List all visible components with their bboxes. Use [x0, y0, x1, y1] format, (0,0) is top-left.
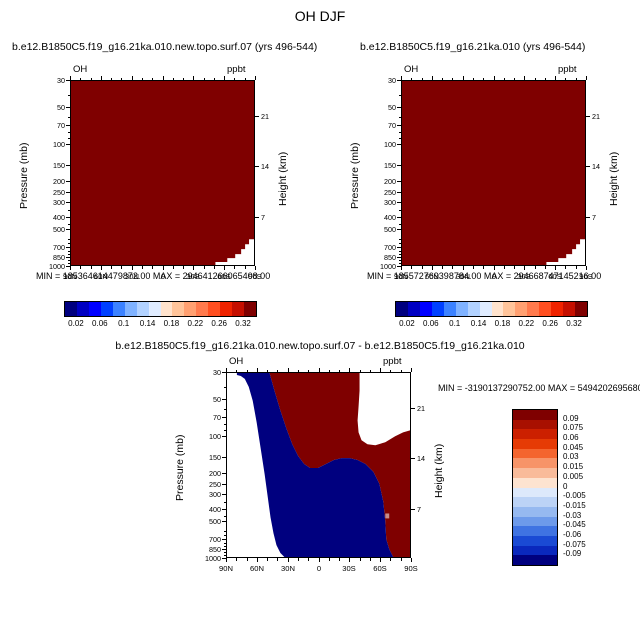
- right-ytick-label-1000: 1000: [367, 262, 396, 271]
- diff-ytick-label-50: 50: [192, 395, 221, 404]
- left-ytick-mark-70: [66, 125, 70, 126]
- right-xtick-minor-top: [473, 78, 474, 81]
- colorbar-cell: [492, 302, 504, 316]
- left-ytick-label-1000: 1000: [36, 262, 65, 271]
- diff-xtick-minor-top: [360, 370, 361, 373]
- right-ytick-label-30: 30: [367, 76, 396, 85]
- diff-colorbar-tick-label: -0.015: [563, 501, 603, 510]
- right-xtick-minor: [576, 266, 577, 269]
- left-xtick-mark-6: [255, 266, 256, 270]
- left-xtick-minor-top: [214, 78, 215, 81]
- page-title: OH DJF: [0, 8, 640, 24]
- colorbar-cell: [513, 526, 557, 536]
- left-panel-title: b.e12.B1850C5.f19_g16.21ka.010.new.topo.…: [12, 41, 317, 53]
- right-ytick-minor: [399, 132, 402, 133]
- diff-colorbar-tick-label: -0.06: [563, 530, 603, 539]
- right-xtick-top-1: [432, 76, 433, 80]
- left-ytick-mark-700: [66, 247, 70, 248]
- colorbar-cell: [513, 546, 557, 556]
- diff-panel-minmax: MIN = -3190137290752.00 MAX = 5494202695…: [438, 383, 640, 393]
- diff-ytick-minor: [224, 555, 227, 556]
- left-ytick-label-30: 30: [36, 76, 65, 85]
- colorbar-cell: [396, 302, 408, 316]
- left-xtick-minor-top: [173, 78, 174, 81]
- diff-ytick-mark-300: [222, 494, 226, 495]
- left-ytick-label-700: 700: [36, 243, 65, 252]
- diff-xtick-top-6: [411, 368, 412, 372]
- right-xtick-mark-4: [524, 266, 525, 270]
- right-ytick-minor: [399, 210, 402, 211]
- left-y2tick-label-7: 7: [261, 213, 281, 222]
- right-y2tick-mark-21: [586, 116, 590, 117]
- left-ytick-label-400: 400: [36, 213, 65, 222]
- colorbar-cell: [456, 302, 468, 316]
- left-ytick-mark-200: [66, 181, 70, 182]
- diff-ytick-minor: [224, 543, 227, 544]
- diff-ytick-minor: [224, 387, 227, 388]
- right-ytick-label-700: 700: [367, 243, 396, 252]
- diff-colorbar-tick-label: 0.09: [563, 414, 603, 423]
- colorbar-cell: [513, 555, 557, 565]
- colorbar-cell: [408, 302, 420, 316]
- left-panel-plot[interactable]: [70, 80, 255, 266]
- colorbar-cell: [184, 302, 196, 316]
- diff-colorbar-tick-label: -0.09: [563, 549, 603, 558]
- diff-ytick-mark-200: [222, 473, 226, 474]
- left-ytick-mark-150: [66, 165, 70, 166]
- diff-xtick-mark-0: [226, 558, 227, 562]
- right-ytick-mark-30: [397, 80, 401, 81]
- right-ytick-mark-50: [397, 107, 401, 108]
- diff-xtick-minor-top: [401, 370, 402, 373]
- colorbar-cell: [113, 302, 125, 316]
- right-ytick-minor: [399, 251, 402, 252]
- diff-xtick-minor: [247, 558, 248, 561]
- diff-ytick-minor: [224, 531, 227, 532]
- diff-y2tick-label-7: 7: [417, 505, 437, 514]
- left-xtick-minor: [245, 266, 246, 269]
- colorbar-cell: [513, 478, 557, 488]
- diff-ytick-mark-30: [222, 372, 226, 373]
- diff-panel-plot[interactable]: [226, 372, 411, 558]
- right-xtick-minor-top: [483, 78, 484, 81]
- colorbar-cell: [551, 302, 563, 316]
- diff-panel-title: b.e12.B1850C5.f19_g16.21ka.010.new.topo.…: [0, 340, 640, 352]
- left-xtick-minor-top: [245, 78, 246, 81]
- right-ytick-label-50: 50: [367, 103, 396, 112]
- diff-xtick-minor-top: [370, 370, 371, 373]
- left-xtick-mark-0: [70, 266, 71, 270]
- right-xtick-top-3: [494, 76, 495, 80]
- right-ytick-mark-250: [397, 192, 401, 193]
- left-xtick-minor: [142, 266, 143, 269]
- diff-xtick-label-3: 0: [303, 564, 335, 573]
- right-units-label: ppbt: [558, 64, 577, 75]
- diff-xtick-minor: [370, 558, 371, 561]
- right-panel-plot[interactable]: [401, 80, 586, 266]
- right-ytick-minor: [399, 239, 402, 240]
- right-ylabel: Pressure (mb): [349, 142, 361, 209]
- colorbar-cell: [89, 302, 101, 316]
- right-xtick-mark-1: [432, 266, 433, 270]
- diff-ytick-minor: [224, 430, 227, 431]
- diff-ytick-label-100: 100: [192, 432, 221, 441]
- colorbar-cell: [196, 302, 208, 316]
- colorbar-cell: [137, 302, 149, 316]
- left-ytick-mark-30: [66, 80, 70, 81]
- left-xtick-minor-top: [121, 78, 122, 81]
- colorbar-cell: [244, 302, 256, 316]
- colorbar-cell: [513, 497, 557, 507]
- left-y2tick-mark-14: [255, 166, 259, 167]
- right-ytick-mark-150: [397, 165, 401, 166]
- diff-xtick-top-5: [380, 368, 381, 372]
- colorbar-cell: [513, 429, 557, 439]
- right-ytick-minor: [399, 138, 402, 139]
- left-xtick-mark-5: [224, 266, 225, 270]
- colorbar-cell: [539, 302, 551, 316]
- left-colorbar-tick-label: 0.32: [227, 319, 259, 328]
- left-ytick-mark-500: [66, 229, 70, 230]
- left-ytick-minor: [68, 254, 71, 255]
- right-xtick-mark-2: [463, 266, 464, 270]
- diff-xtick-mark-4: [349, 558, 350, 562]
- diff-xtick-top-4: [349, 368, 350, 372]
- left-ytick-mark-250: [66, 192, 70, 193]
- diff-xtick-top-0: [226, 368, 227, 372]
- right-ytick-mark-300: [397, 202, 401, 203]
- colorbar-cell: [232, 302, 244, 316]
- diff-xtick-label-2: 30N: [272, 564, 304, 573]
- colorbar-cell: [575, 302, 587, 316]
- diff-ytick-mark-400: [222, 509, 226, 510]
- diff-ytick-minor: [224, 424, 227, 425]
- diff-xtick-minor-top: [339, 370, 340, 373]
- diff-ytick-mark-150: [222, 457, 226, 458]
- left-variable-label: OH: [73, 64, 87, 75]
- diff-colorbar-tick-label: 0: [563, 482, 603, 491]
- diff-colorbar-tick-label: -0.03: [563, 511, 603, 520]
- right-xtick-minor-top: [576, 78, 577, 81]
- left-xtick-minor-top: [91, 78, 92, 81]
- diff-y2label: Height (km): [433, 444, 445, 498]
- colorbar-cell: [432, 302, 444, 316]
- left-panel-colorbar[interactable]: [64, 301, 257, 317]
- colorbar-cell: [101, 302, 113, 316]
- diff-xtick-mark-2: [288, 558, 289, 562]
- left-xtick-top-5: [224, 76, 225, 80]
- left-xtick-minor: [214, 266, 215, 269]
- left-ytick-minor: [68, 260, 71, 261]
- diff-xtick-top-2: [288, 368, 289, 372]
- left-ytick-minor: [68, 132, 71, 133]
- diff-xtick-minor-top: [329, 370, 330, 373]
- right-panel-field: [402, 81, 585, 265]
- diff-xtick-minor: [401, 558, 402, 561]
- colorbar-cell: [161, 302, 173, 316]
- left-ytick-label-300: 300: [36, 198, 65, 207]
- right-ytick-mark-700: [397, 247, 401, 248]
- diff-xtick-mark-5: [380, 558, 381, 562]
- diff-ytick-label-500: 500: [192, 517, 221, 526]
- left-xtick-top-2: [132, 76, 133, 80]
- left-ytick-mark-400: [66, 217, 70, 218]
- right-ytick-label-400: 400: [367, 213, 396, 222]
- left-xtick-minor: [234, 266, 235, 269]
- left-xtick-minor: [91, 266, 92, 269]
- diff-colorbar-tick-label: -0.005: [563, 491, 603, 500]
- diff-xtick-minor: [298, 558, 299, 561]
- right-xtick-minor: [514, 266, 515, 269]
- right-xtick-minor-top: [411, 78, 412, 81]
- diff-ytick-minor: [224, 535, 227, 536]
- left-y2tick-mark-21: [255, 116, 259, 117]
- colorbar-cell: [208, 302, 220, 316]
- right-y2label: Height (km): [608, 152, 620, 206]
- right-xtick-minor: [565, 266, 566, 269]
- right-panel-minmax: MIN = 185572769398784.00 MAX = 294668747…: [367, 271, 601, 281]
- right-xtick-minor-top: [514, 78, 515, 81]
- diff-ylabel: Pressure (mb): [174, 434, 186, 501]
- right-ytick-mark-100: [397, 144, 401, 145]
- diff-ytick-label-30: 30: [192, 368, 221, 377]
- left-xtick-minor-top: [152, 78, 153, 81]
- right-ytick-minor: [399, 117, 402, 118]
- diff-xtick-minor-top: [308, 370, 309, 373]
- right-xtick-minor: [504, 266, 505, 269]
- colorbar-cell: [503, 302, 515, 316]
- diff-colorbar-tick-label: -0.045: [563, 520, 603, 529]
- left-ytick-label-50: 50: [36, 103, 65, 112]
- right-xtick-minor: [442, 266, 443, 269]
- diff-ytick-label-70: 70: [192, 413, 221, 422]
- left-y2label: Height (km): [277, 152, 289, 206]
- diff-ytick-mark-70: [222, 417, 226, 418]
- diff-xtick-minor: [360, 558, 361, 561]
- colorbar-cell: [513, 507, 557, 517]
- left-xtick-mark-4: [193, 266, 194, 270]
- colorbar-cell: [513, 488, 557, 498]
- right-xtick-minor-top: [565, 78, 566, 81]
- left-xtick-minor-top: [234, 78, 235, 81]
- diff-ytick-mark-500: [222, 521, 226, 522]
- left-ytick-mark-100: [66, 144, 70, 145]
- diff-ytick-label-850: 850: [192, 545, 221, 554]
- diff-ytick-minor: [224, 409, 227, 410]
- right-ytick-label-70: 70: [367, 121, 396, 130]
- diff-colorbar-tick-label: 0.075: [563, 423, 603, 432]
- colorbar-cell: [480, 302, 492, 316]
- diff-ytick-minor: [224, 546, 227, 547]
- left-xtick-top-0: [70, 76, 71, 80]
- right-ytick-label-850: 850: [367, 253, 396, 262]
- left-ytick-minor: [68, 210, 71, 211]
- diff-xtick-minor-top: [298, 370, 299, 373]
- colorbar-cell: [563, 302, 575, 316]
- right-y2tick-mark-14: [586, 166, 590, 167]
- left-ytick-mark-50: [66, 107, 70, 108]
- diff-colorbar-tick-label: 0.06: [563, 433, 603, 442]
- right-xtick-top-4: [524, 76, 525, 80]
- diff-xtick-minor: [329, 558, 330, 561]
- diff-xtick-label-0: 90N: [210, 564, 242, 573]
- colorbar-cell: [513, 468, 557, 478]
- right-xtick-minor: [411, 266, 412, 269]
- colorbar-cell: [513, 458, 557, 468]
- left-xtick-minor: [173, 266, 174, 269]
- left-ytick-minor: [68, 224, 71, 225]
- right-xtick-minor: [535, 266, 536, 269]
- left-ytick-label-100: 100: [36, 140, 65, 149]
- right-xtick-top-5: [555, 76, 556, 80]
- colorbar-cell: [527, 302, 539, 316]
- right-panel-colorbar[interactable]: [395, 301, 588, 317]
- left-ytick-minor: [68, 138, 71, 139]
- colorbar-cell: [444, 302, 456, 316]
- left-xtick-minor: [121, 266, 122, 269]
- left-ytick-mark-850: [66, 257, 70, 258]
- right-y2tick-label-21: 21: [592, 112, 612, 121]
- diff-panel-colorbar[interactable]: [512, 409, 558, 566]
- right-variable-label: OH: [404, 64, 418, 75]
- colorbar-cell: [513, 449, 557, 459]
- left-xtick-mark-1: [101, 266, 102, 270]
- right-ytick-mark-850: [397, 257, 401, 258]
- diff-xtick-minor: [277, 558, 278, 561]
- diff-colorbar-tick-label: 0.03: [563, 452, 603, 461]
- left-xtick-minor-top: [111, 78, 112, 81]
- right-xtick-minor-top: [545, 78, 546, 81]
- colorbar-cell: [513, 420, 557, 430]
- right-xtick-mark-5: [555, 266, 556, 270]
- left-ylabel: Pressure (mb): [18, 142, 30, 209]
- diff-y2tick-mark-14: [411, 458, 415, 459]
- left-xtick-minor: [204, 266, 205, 269]
- diff-ytick-label-150: 150: [192, 453, 221, 462]
- colorbar-cell: [513, 517, 557, 527]
- right-xtick-mark-3: [494, 266, 495, 270]
- left-xtick-minor: [111, 266, 112, 269]
- colorbar-cell: [420, 302, 432, 316]
- diff-xtick-top-3: [319, 368, 320, 372]
- right-panel-title: b.e12.B1850C5.f19_g16.21ka.010 (yrs 496-…: [360, 41, 585, 53]
- right-xtick-mark-0: [401, 266, 402, 270]
- diff-xtick-minor-top: [277, 370, 278, 373]
- colorbar-cell: [77, 302, 89, 316]
- left-panel-minmax: MIN = 185364614479872.00 MAX = 294641266…: [36, 271, 270, 281]
- right-ytick-label-200: 200: [367, 177, 396, 186]
- right-xtick-minor: [422, 266, 423, 269]
- diff-xtick-minor: [390, 558, 391, 561]
- left-y2tick-mark-7: [255, 217, 259, 218]
- left-ytick-label-850: 850: [36, 253, 65, 262]
- right-ytick-mark-70: [397, 125, 401, 126]
- right-y2tick-mark-7: [586, 217, 590, 218]
- right-ytick-minor: [399, 263, 402, 264]
- diff-panel-field: [227, 373, 410, 557]
- diff-xtick-minor-top: [236, 370, 237, 373]
- left-ytick-minor: [68, 263, 71, 264]
- diff-y2tick-label-21: 21: [417, 404, 437, 413]
- left-xtick-minor-top: [80, 78, 81, 81]
- diff-ytick-mark-50: [222, 399, 226, 400]
- left-xtick-minor-top: [204, 78, 205, 81]
- left-xtick-minor-top: [183, 78, 184, 81]
- diff-xtick-label-4: 30S: [333, 564, 365, 573]
- left-ytick-minor: [68, 243, 71, 244]
- right-ytick-mark-200: [397, 181, 401, 182]
- diff-xtick-mark-6: [411, 558, 412, 562]
- left-xtick-mark-2: [132, 266, 133, 270]
- diff-ytick-label-700: 700: [192, 535, 221, 544]
- right-y2tick-label-7: 7: [592, 213, 612, 222]
- diff-xtick-minor: [267, 558, 268, 561]
- right-xtick-minor-top: [452, 78, 453, 81]
- colorbar-cell: [513, 410, 557, 420]
- left-ytick-label-250: 250: [36, 188, 65, 197]
- diff-variable-label: OH: [229, 356, 243, 367]
- left-ytick-label-150: 150: [36, 161, 65, 170]
- right-xtick-minor-top: [422, 78, 423, 81]
- right-ytick-mark-400: [397, 217, 401, 218]
- right-ytick-minor: [399, 224, 402, 225]
- left-y2tick-label-21: 21: [261, 112, 281, 121]
- right-ytick-label-150: 150: [367, 161, 396, 170]
- right-xtick-top-6: [586, 76, 587, 80]
- right-xtick-minor-top: [504, 78, 505, 81]
- diff-xtick-minor-top: [267, 370, 268, 373]
- colorbar-cell: [468, 302, 480, 316]
- colorbar-cell: [513, 439, 557, 449]
- right-ytick-label-250: 250: [367, 188, 396, 197]
- diff-ytick-mark-100: [222, 436, 226, 437]
- right-ytick-label-500: 500: [367, 225, 396, 234]
- left-ytick-minor: [68, 117, 71, 118]
- right-xtick-minor: [483, 266, 484, 269]
- diff-colorbar-tick-label: 0.005: [563, 472, 603, 481]
- colorbar-cell: [65, 302, 77, 316]
- diff-ytick-mark-250: [222, 484, 226, 485]
- colorbar-cell: [149, 302, 161, 316]
- left-xtick-top-3: [163, 76, 164, 80]
- diff-xtick-minor-top: [247, 370, 248, 373]
- diff-ytick-label-200: 200: [192, 469, 221, 478]
- left-xtick-top-6: [255, 76, 256, 80]
- diff-xtick-minor: [339, 558, 340, 561]
- left-xtick-minor-top: [142, 78, 143, 81]
- diff-colorbar-tick-label: 0.015: [563, 462, 603, 471]
- colorbar-cell: [513, 536, 557, 546]
- diff-ytick-minor: [224, 552, 227, 553]
- diff-ytick-mark-700: [222, 539, 226, 540]
- right-ytick-minor: [399, 243, 402, 244]
- diff-y2tick-mark-7: [411, 509, 415, 510]
- right-colorbar-tick-label: 0.32: [558, 319, 590, 328]
- left-ytick-minor: [68, 239, 71, 240]
- diff-xtick-mark-3: [319, 558, 320, 562]
- diff-ytick-label-1000: 1000: [192, 554, 221, 563]
- diff-xtick-label-1: 60N: [241, 564, 273, 573]
- left-ytick-label-500: 500: [36, 225, 65, 234]
- left-xtick-top-4: [193, 76, 194, 80]
- right-xtick-top-0: [401, 76, 402, 80]
- diff-ytick-label-300: 300: [192, 490, 221, 499]
- diff-ytick-label-400: 400: [192, 505, 221, 514]
- left-xtick-mark-3: [163, 266, 164, 270]
- left-units-label: ppbt: [227, 64, 246, 75]
- right-xtick-minor: [545, 266, 546, 269]
- left-xtick-top-1: [101, 76, 102, 80]
